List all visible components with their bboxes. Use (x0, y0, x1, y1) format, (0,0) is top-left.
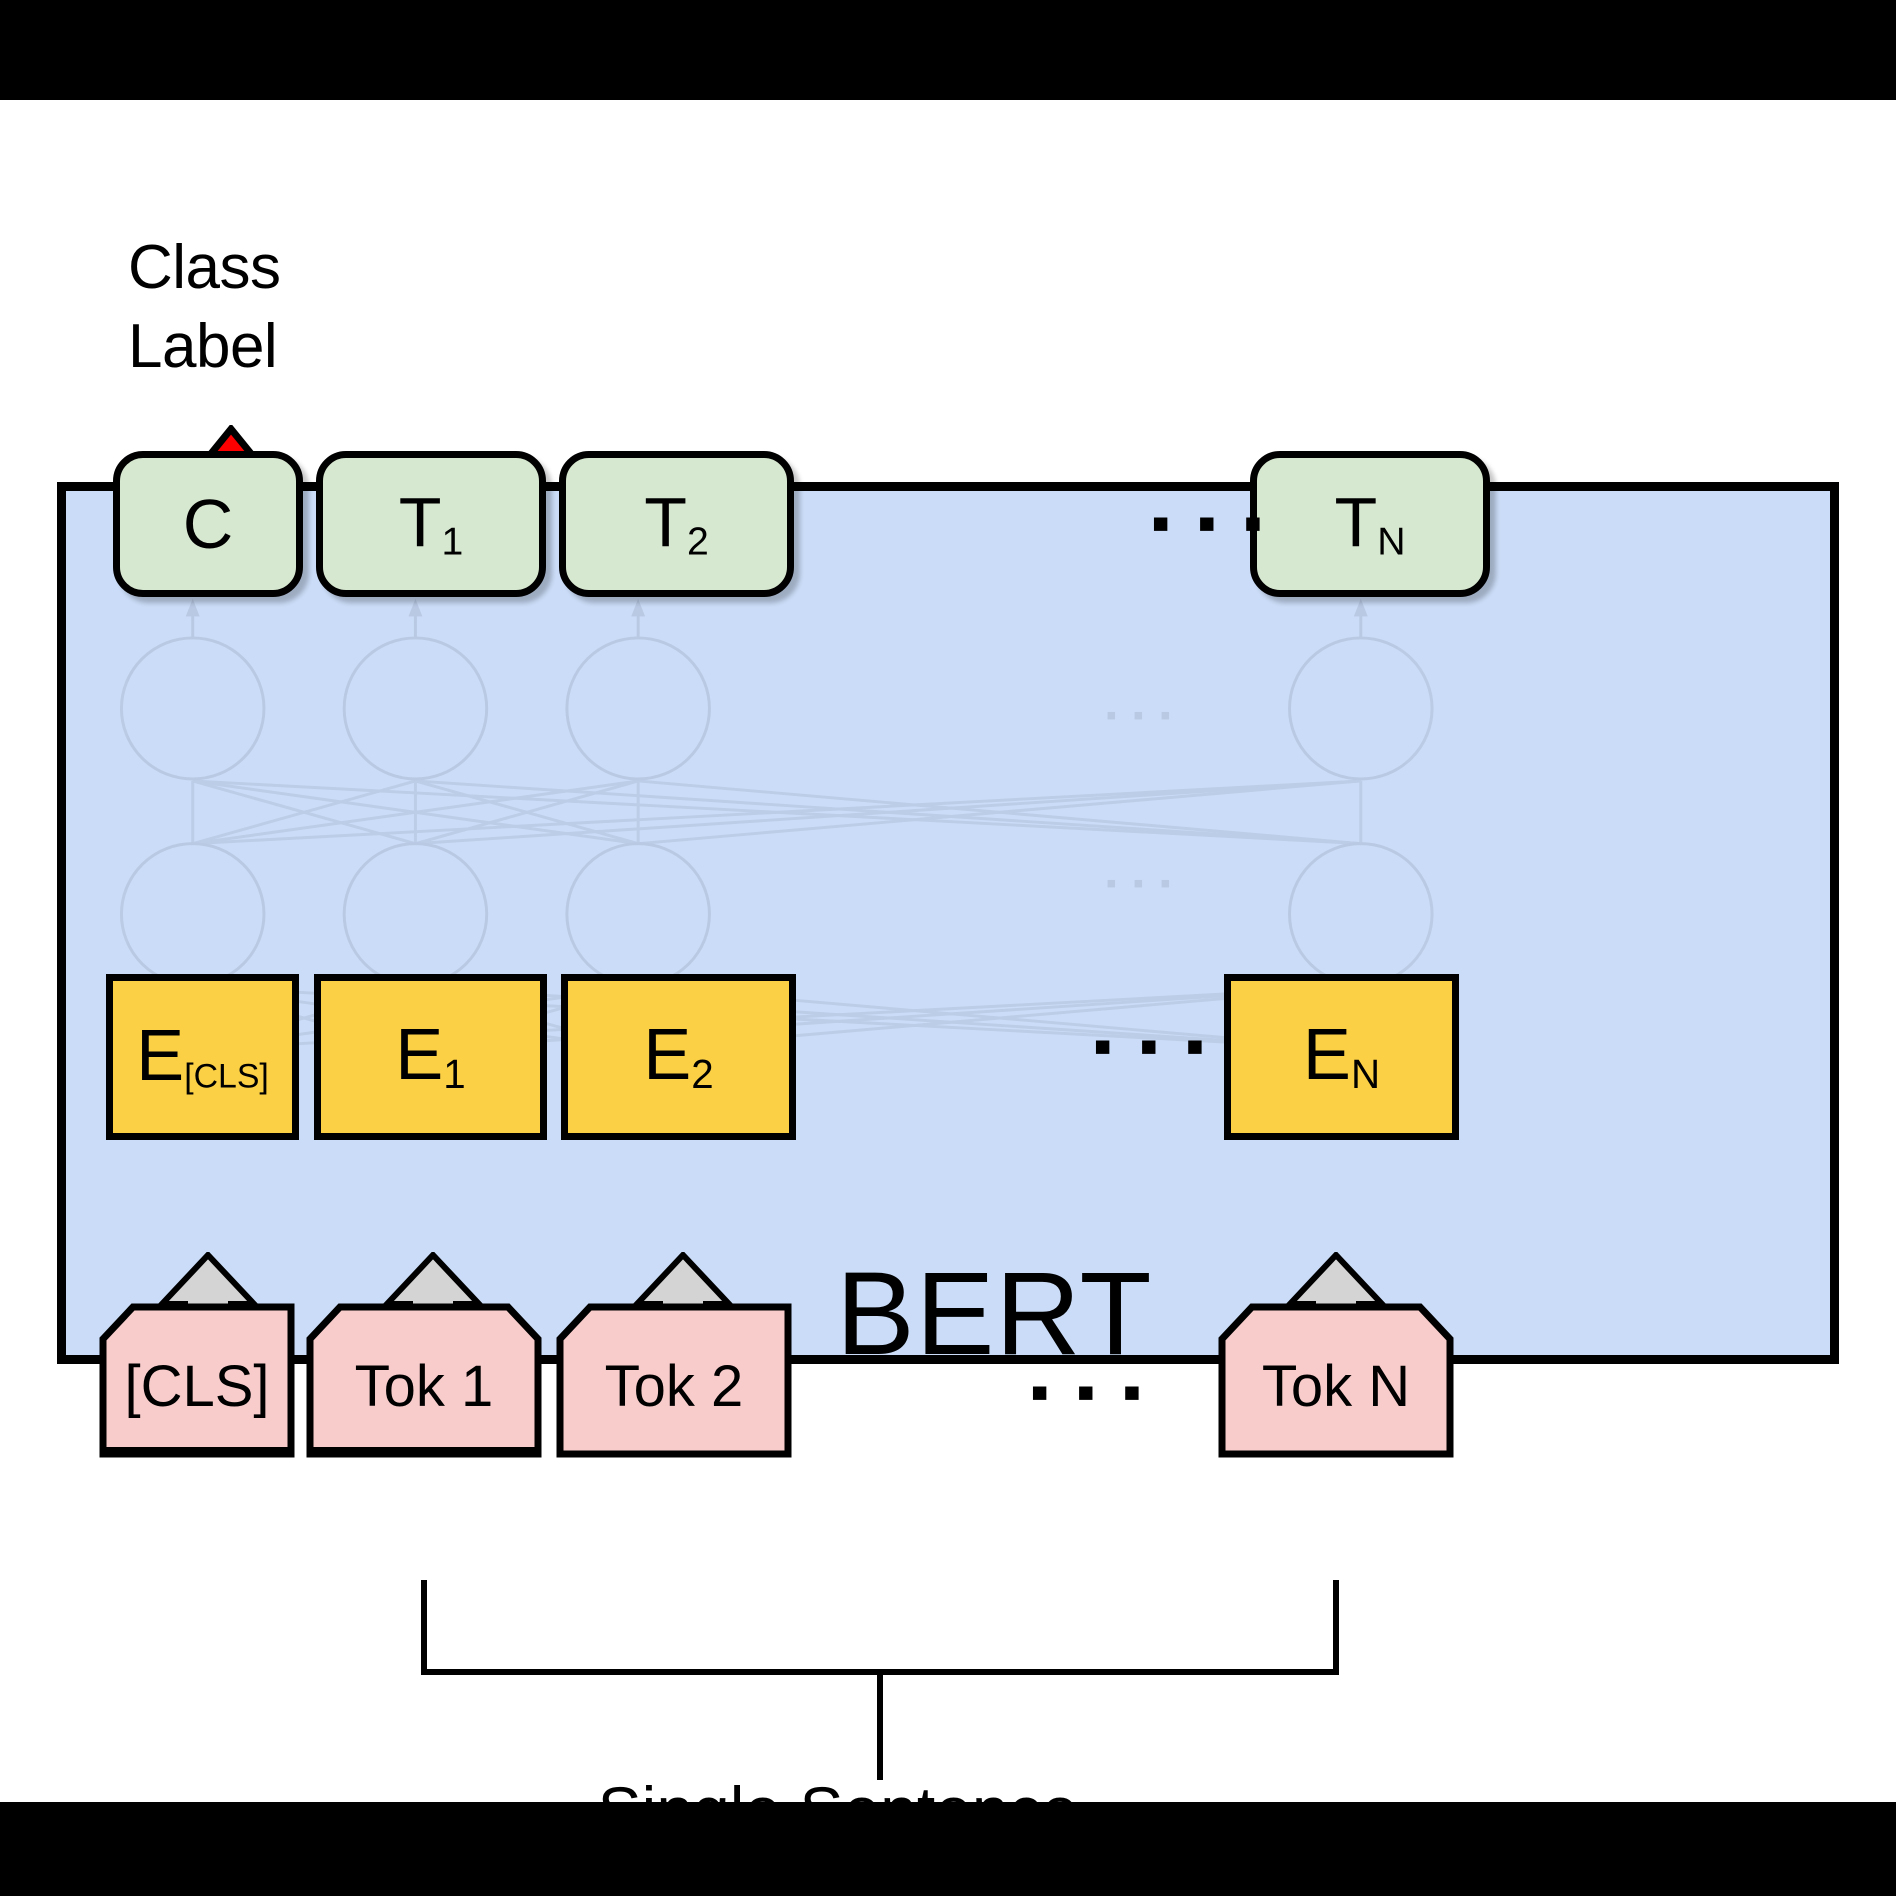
sentence-caption-text: Single Sentence (598, 1772, 1079, 1848)
bert-encoder-block: ▪ ▪ ▪ ▪ ▪ ▪ BERT C T1 T2 TN ▪ ▪ ▪ E[CLS] (57, 482, 1839, 1364)
embedding-label: E2 (643, 1019, 713, 1094)
input-token-label: Tok 2 (605, 1353, 744, 1420)
sentence-bracket (0, 1580, 1896, 1780)
sentence-caption: Single Sentence (0, 1772, 1896, 1848)
figure-canvas: Class Label (0, 0, 1896, 1896)
output-token-box-tn: TN (1250, 451, 1490, 597)
input-token-box-cls: [CLS] (99, 1303, 295, 1458)
embedding-row-ellipsis: ▪ ▪ ▪ (1093, 1019, 1210, 1073)
input-token-label: Tok 1 (355, 1353, 494, 1420)
output-row-ellipsis: ▪ ▪ ▪ (1151, 496, 1268, 550)
output-token-label: T1 (399, 487, 464, 562)
output-token-label: C (183, 489, 234, 559)
letterbox-top (0, 0, 1896, 100)
embedding-box-cls: E[CLS] (106, 974, 299, 1140)
input-token-box-tok2: Tok 2 (556, 1303, 792, 1458)
network-ellipsis-lower: ▪ ▪ ▪ (1106, 869, 1175, 899)
embedding-box-e2: E2 (561, 974, 796, 1140)
input-token-label: [CLS] (124, 1353, 269, 1420)
embedding-label: E[CLS] (136, 1020, 269, 1094)
input-token-label: Tok N (1262, 1353, 1410, 1420)
output-token-box-t1: T1 (316, 451, 546, 597)
transformer-network-graphic (66, 491, 1830, 1355)
output-token-label: TN (1334, 487, 1405, 562)
diagram-area: Class Label (0, 100, 1896, 1802)
input-row-ellipsis: ▪ ▪ ▪ (1030, 1365, 1147, 1419)
input-token-box-tok1: Tok 1 (306, 1303, 542, 1458)
output-token-box-t2: T2 (559, 451, 794, 597)
embedding-box-en: EN (1224, 974, 1459, 1140)
embedding-box-e1: E1 (314, 974, 547, 1140)
input-token-box-tokn: Tok N (1218, 1303, 1454, 1458)
network-ellipsis-upper: ▪ ▪ ▪ (1106, 701, 1175, 731)
embedding-label: EN (1303, 1019, 1380, 1094)
embedding-label: E1 (395, 1019, 465, 1094)
output-token-label: T2 (644, 487, 709, 562)
output-token-box-c: C (113, 451, 303, 597)
class-label-text: Class Label (128, 228, 458, 387)
